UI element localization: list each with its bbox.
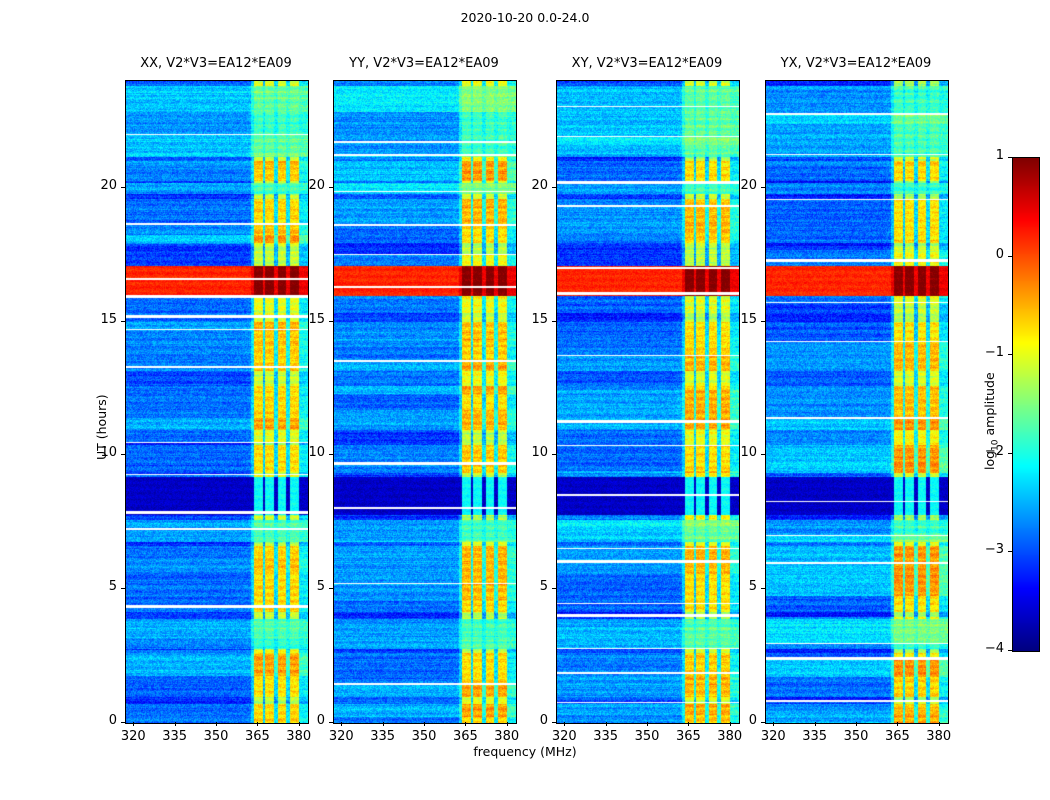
waterfall-image-xy — [557, 81, 739, 723]
x-tick-label: 335 — [584, 729, 628, 744]
x-tick-mark — [856, 722, 857, 726]
y-tick-label: 15 — [289, 312, 325, 327]
waterfall-image-yy — [334, 81, 516, 723]
y-tick-mark — [761, 588, 765, 589]
y-tick-label: 10 — [721, 445, 757, 460]
x-tick-mark — [424, 722, 425, 726]
x-tick-mark — [341, 722, 342, 726]
y-tick-mark — [552, 454, 556, 455]
colorbar-label-suffix: amplitude — [982, 372, 997, 439]
y-tick-mark — [121, 187, 125, 188]
y-tick-label: 5 — [81, 579, 117, 594]
colorbar-tick-label: 1 — [964, 148, 1004, 163]
x-tick-mark — [688, 722, 689, 726]
colorbar[interactable] — [1012, 157, 1040, 652]
y-tick-label: 5 — [289, 579, 325, 594]
x-tick-label: 335 — [793, 729, 837, 744]
colorbar-tick-mark — [1008, 551, 1012, 552]
x-tick-label: 365 — [443, 729, 487, 744]
x-tick-mark — [175, 722, 176, 726]
x-tick-mark — [939, 722, 940, 726]
panel-title-yx: YX, V2*V3=EA12*EA09 — [705, 56, 1007, 71]
y-tick-mark — [329, 588, 333, 589]
x-tick-label: 380 — [485, 729, 529, 744]
x-tick-label: 350 — [194, 729, 238, 744]
y-tick-mark — [552, 588, 556, 589]
x-tick-label: 365 — [235, 729, 279, 744]
colorbar-tick-mark — [1008, 453, 1012, 454]
y-tick-label: 15 — [721, 312, 757, 327]
y-tick-label: 0 — [289, 713, 325, 728]
waterfall-panel-xy[interactable] — [556, 80, 740, 724]
y-tick-label: 0 — [81, 713, 117, 728]
x-tick-mark — [465, 722, 466, 726]
y-tick-label: 0 — [512, 713, 548, 728]
x-tick-label: 380 — [917, 729, 961, 744]
x-tick-label: 350 — [834, 729, 878, 744]
y-tick-mark — [761, 321, 765, 322]
y-tick-mark — [121, 722, 125, 723]
y-tick-mark — [329, 321, 333, 322]
x-axis-label: frequency (MHz) — [0, 744, 1050, 759]
x-tick-label: 320 — [319, 729, 363, 744]
x-tick-label: 335 — [153, 729, 197, 744]
y-tick-mark — [552, 187, 556, 188]
colorbar-tick-mark — [1008, 256, 1012, 257]
x-tick-mark — [216, 722, 217, 726]
x-tick-label: 365 — [666, 729, 710, 744]
y-tick-mark — [761, 722, 765, 723]
y-tick-label: 20 — [81, 178, 117, 193]
colorbar-tick-mark — [1008, 157, 1012, 158]
y-axis-label: UT (hours) — [94, 394, 109, 460]
colorbar-label-subscript: 10 — [991, 439, 1001, 450]
y-tick-mark — [552, 722, 556, 723]
x-tick-label: 320 — [542, 729, 586, 744]
colorbar-tick-label: −4 — [964, 641, 1004, 656]
y-tick-label: 10 — [289, 445, 325, 460]
figure-suptitle: 2020-10-20 0.0-24.0 — [0, 10, 1050, 25]
waterfall-image-xx — [126, 81, 308, 723]
x-tick-label: 320 — [111, 729, 155, 744]
x-tick-label: 350 — [402, 729, 446, 744]
y-tick-mark — [121, 454, 125, 455]
waterfall-image-yx — [766, 81, 948, 723]
x-tick-mark — [383, 722, 384, 726]
colorbar-label-prefix: log — [982, 451, 997, 470]
colorbar-tick-label: −3 — [964, 542, 1004, 557]
colorbar-tick-label: 0 — [964, 247, 1004, 262]
x-tick-label: 350 — [625, 729, 669, 744]
colorbar-tick-mark — [1008, 354, 1012, 355]
x-tick-mark — [647, 722, 648, 726]
y-tick-label: 20 — [721, 178, 757, 193]
x-tick-label: 380 — [277, 729, 321, 744]
y-tick-label: 5 — [721, 579, 757, 594]
figure-canvas: 2020-10-20 0.0-24.0 XX, V2*V3=EA12*EA093… — [0, 0, 1050, 800]
y-tick-mark — [329, 722, 333, 723]
y-tick-label: 10 — [512, 445, 548, 460]
y-tick-mark — [552, 321, 556, 322]
x-tick-mark — [897, 722, 898, 726]
colorbar-tick-label: −1 — [964, 345, 1004, 360]
y-tick-mark — [329, 187, 333, 188]
x-tick-label: 335 — [361, 729, 405, 744]
y-tick-mark — [761, 454, 765, 455]
x-tick-label: 320 — [751, 729, 795, 744]
x-tick-mark — [257, 722, 258, 726]
y-tick-mark — [761, 187, 765, 188]
colorbar-label: log10 amplitude — [982, 372, 1001, 470]
x-tick-mark — [606, 722, 607, 726]
y-tick-mark — [329, 454, 333, 455]
x-tick-mark — [773, 722, 774, 726]
colorbar-tick-mark — [1008, 650, 1012, 651]
y-tick-label: 15 — [81, 312, 117, 327]
x-tick-label: 365 — [875, 729, 919, 744]
y-tick-label: 0 — [721, 713, 757, 728]
waterfall-panel-yx[interactable] — [765, 80, 949, 724]
y-tick-label: 20 — [289, 178, 325, 193]
y-tick-label: 20 — [512, 178, 548, 193]
colorbar-gradient — [1013, 158, 1039, 651]
x-tick-mark — [815, 722, 816, 726]
x-tick-mark — [564, 722, 565, 726]
x-tick-mark — [507, 722, 508, 726]
y-tick-mark — [121, 588, 125, 589]
y-tick-label: 5 — [512, 579, 548, 594]
waterfall-panel-yy[interactable] — [333, 80, 517, 724]
y-tick-mark — [121, 321, 125, 322]
y-tick-label: 15 — [512, 312, 548, 327]
x-tick-label: 380 — [708, 729, 752, 744]
x-tick-mark — [133, 722, 134, 726]
waterfall-panel-xx[interactable] — [125, 80, 309, 724]
